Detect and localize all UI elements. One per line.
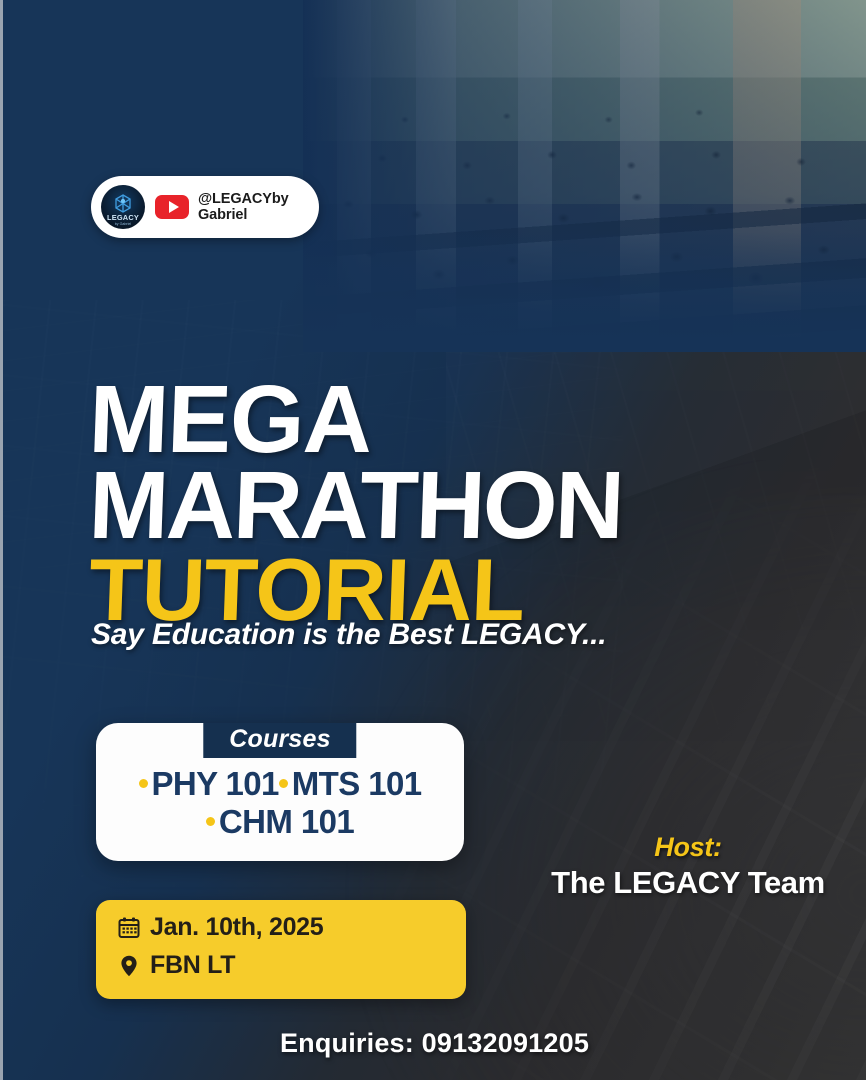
play-triangle-icon	[169, 201, 179, 213]
flyer-poster: LEGACY by Gabriel @LEGACYby Gabriel MEGA…	[0, 0, 866, 1080]
channel-badge[interactable]: LEGACY by Gabriel @LEGACYby Gabriel	[91, 176, 319, 238]
bullet-dot-icon	[206, 817, 215, 826]
courses-heading: Courses	[203, 723, 356, 758]
course-row: CHM 101	[96, 805, 464, 839]
channel-handle-line2: Gabriel	[198, 207, 289, 223]
course-row: PHY 101 MTS 101	[96, 767, 464, 801]
host-name: The LEGACY Team	[523, 865, 853, 901]
event-venue-row: FBN LT	[116, 951, 466, 980]
host-block: Host: The LEGACY Team	[523, 832, 853, 901]
headline-line-tutorial: TUTORIAL	[88, 551, 791, 628]
svg-text:LEGACY: LEGACY	[107, 213, 139, 222]
enquiries-line: Enquiries: 09132091205	[3, 1028, 866, 1059]
event-date: Jan. 10th, 2025	[150, 913, 323, 942]
channel-handle-line1: @LEGACYby	[198, 191, 289, 207]
courses-card: Courses PHY 101 MTS 101 CHM 101	[96, 723, 464, 861]
course-item: PHY 101	[139, 767, 279, 801]
svg-text:by Gabriel: by Gabriel	[115, 222, 132, 226]
photo-bottom-fade	[303, 232, 866, 352]
courses-list: PHY 101 MTS 101 CHM 101	[96, 767, 464, 838]
headline-line-marathon: MARATHON	[88, 464, 791, 548]
legacy-logo-icon: LEGACY by Gabriel	[101, 185, 145, 229]
course-item: MTS 101	[279, 767, 422, 801]
location-pin-icon	[116, 953, 142, 979]
lecture-hall-photo	[303, 0, 866, 352]
channel-handle: @LEGACYby Gabriel	[198, 191, 289, 223]
course-label: CHM 101	[219, 805, 354, 839]
course-item: CHM 101	[206, 805, 354, 839]
tagline: Say Education is the Best LEGACY...	[91, 618, 606, 652]
course-label: PHY 101	[152, 767, 279, 801]
calendar-icon	[116, 915, 142, 941]
host-label: Host:	[523, 832, 853, 863]
event-venue: FBN LT	[150, 951, 235, 980]
course-label: MTS 101	[292, 767, 422, 801]
youtube-play-icon	[155, 195, 189, 219]
event-date-row: Jan. 10th, 2025	[116, 913, 466, 942]
event-details-card: Jan. 10th, 2025 FBN LT	[96, 900, 466, 999]
bullet-dot-icon	[279, 779, 288, 788]
headline-block: MEGA MARATHON TUTORIAL	[89, 378, 789, 628]
bullet-dot-icon	[139, 779, 148, 788]
headline-line-mega: MEGA	[88, 378, 791, 462]
